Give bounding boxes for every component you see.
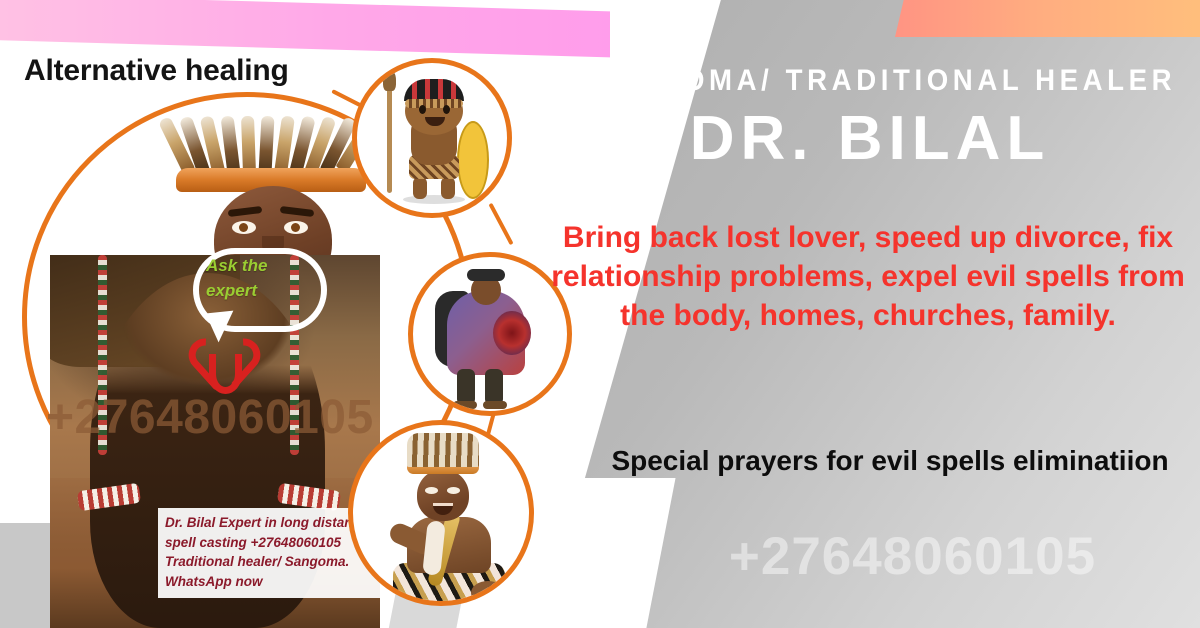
crouching-sangoma-illustration — [348, 420, 534, 606]
poster-canvas: Alternative healing — [0, 0, 1200, 628]
brand-name: DR. BILAL — [560, 106, 1180, 171]
kicker-text: SANGOMA/ TRADITIONAL HEALER — [585, 64, 1155, 98]
services-text: Bring back lost lover, speed up divorce,… — [548, 218, 1188, 335]
orange-accent-bar — [895, 0, 1200, 37]
pink-accent-bar — [0, 0, 610, 57]
page-title: Alternative healing — [24, 54, 289, 88]
connector-line-2 — [488, 203, 513, 245]
speech-bubble-label: Ask the expert — [206, 254, 306, 303]
prayers-text: Special prayers for evil spells eliminat… — [600, 443, 1180, 480]
bottom-left-gray-strip — [0, 523, 57, 628]
photo-watermark-phone: +27648060105 — [46, 390, 374, 445]
panel-watermark-phone: +27648060105 — [640, 526, 1185, 587]
zulu-warrior-illustration — [352, 58, 512, 218]
heart-icon — [190, 332, 260, 396]
